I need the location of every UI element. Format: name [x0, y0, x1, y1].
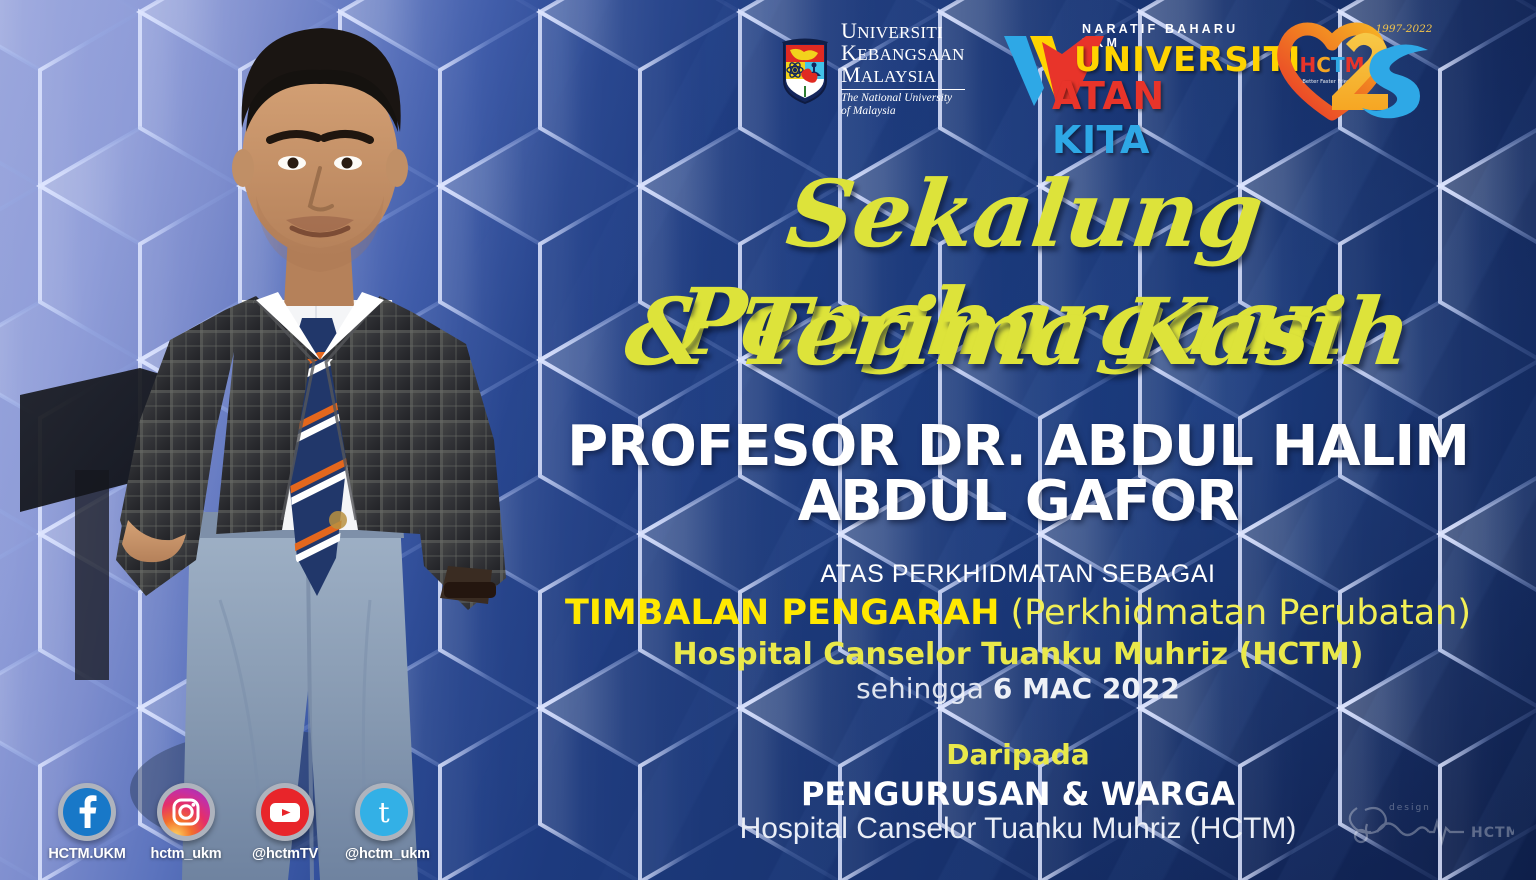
youtube-handle: @hctmTV [246, 846, 324, 862]
social-twitter[interactable]: t @hctm_ukm [345, 783, 423, 862]
facebook-icon [63, 788, 111, 836]
social-instagram[interactable]: hctm_ukm [147, 783, 225, 862]
twitter-handle: @hctm_ukm [345, 846, 423, 862]
honoree-name-line2: ABDUL GAFOR [500, 473, 1536, 531]
instagram-handle: hctm_ukm [147, 846, 225, 862]
main-content: Sekalung Penghargaan & Terima Kasih PROF… [500, 0, 1536, 880]
youtube-icon [261, 788, 309, 836]
svg-text:t: t [378, 796, 390, 829]
until-line: sehingga 6 MAC 2022 [500, 672, 1536, 705]
facebook-handle: HCTM.UKM [48, 846, 126, 862]
watermark-design-label: design [1389, 803, 1431, 813]
twitter-icon: t [360, 788, 408, 836]
social-facebook[interactable]: HCTM.UKM [48, 783, 126, 862]
role-line: TIMBALAN PENGARAH (Perkhidmatan Perubata… [500, 592, 1536, 634]
until-date: 6 MAC 2022 [993, 672, 1180, 705]
watermark-org-label: HCTM [1471, 825, 1514, 841]
social-links: HCTM.UKM hctm_ukm [48, 783, 423, 862]
twitter-ring: t [355, 783, 413, 841]
until-prefix: sehingga [856, 672, 984, 705]
poster-canvas: UNIVERSITI KEBANGSAAN MALAYSIA The Natio… [0, 0, 1536, 880]
service-intro-label: ATAS PERKHIDMATAN SEBAGAI [500, 560, 1536, 589]
hospital-name-top: Hospital Canselor Tuanku Muhriz (HCTM) [500, 637, 1536, 672]
facebook-ring [58, 783, 116, 841]
instagram-ring [157, 783, 215, 841]
designer-watermark: design HCTM [1339, 792, 1514, 854]
youtube-ring [256, 783, 314, 841]
script-headline-line2: & Terima Kasih [493, 278, 1536, 386]
instagram-icon [162, 788, 210, 836]
honoree-name-line1: PROFESOR DR. ABDUL HALIM [500, 418, 1536, 476]
role-title-qualifier: (Perkhidmatan Perubatan) [1011, 593, 1472, 633]
role-title-bold: TIMBALAN PENGARAH [565, 593, 999, 633]
from-label: Daripada [500, 738, 1536, 771]
social-youtube[interactable]: @hctmTV [246, 783, 324, 862]
